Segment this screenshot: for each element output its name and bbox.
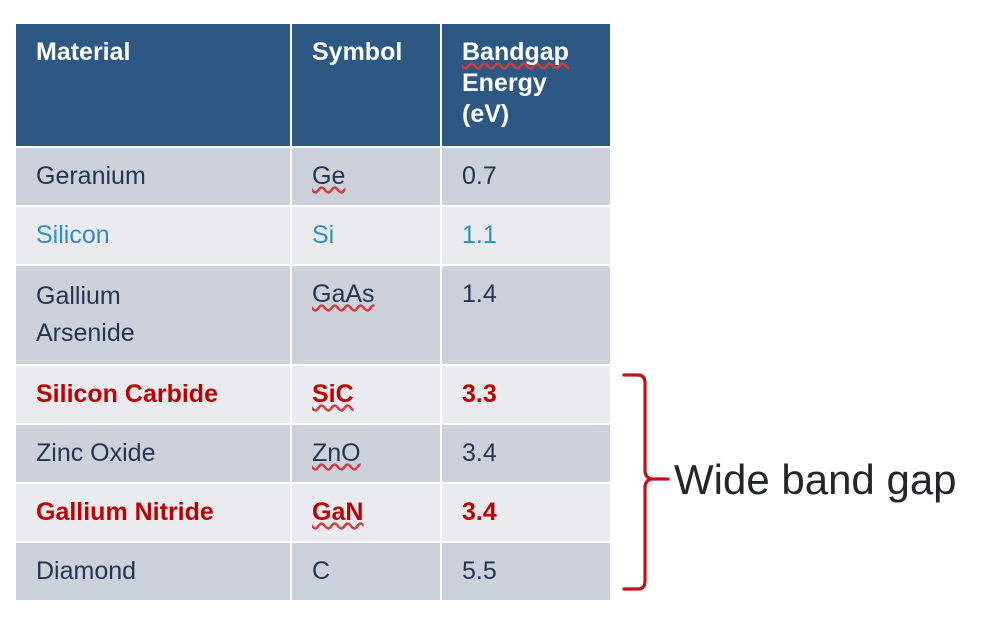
material-name-line2: Arsenide xyxy=(36,315,290,352)
cell-bandgap: 5.5 xyxy=(442,543,610,600)
table-row: Geranium Ge 0.7 xyxy=(16,148,610,205)
material-symbol: GaN xyxy=(312,496,440,529)
bandgap-value: 5.5 xyxy=(462,555,610,588)
table-row: Zinc Oxide ZnO 3.4 xyxy=(16,425,610,482)
bandgap-table: Material Symbol Bandgap Energy (eV) Gera… xyxy=(14,22,612,602)
column-header-bandgap-line2: Energy xyxy=(462,68,610,99)
table-row: Silicon Si 1.1 xyxy=(16,207,610,264)
cell-material: Zinc Oxide xyxy=(16,425,290,482)
table-header-row: Material Symbol Bandgap Energy (eV) xyxy=(16,24,610,146)
material-name: Diamond xyxy=(36,555,290,588)
material-symbol: GaAs xyxy=(312,278,440,311)
table-body: Geranium Ge 0.7 Silicon Si 1.1 Gallium xyxy=(16,148,610,600)
material-name: Silicon Carbide xyxy=(36,378,290,411)
column-header-bandgap-line1: Bandgap xyxy=(462,37,610,68)
cell-bandgap: 0.7 xyxy=(442,148,610,205)
bandgap-value: 3.3 xyxy=(462,378,610,411)
bandgap-value: 1.4 xyxy=(462,278,610,311)
cell-material: Gallium Arsenide xyxy=(16,266,290,364)
cell-bandgap: 1.4 xyxy=(442,266,610,364)
cell-symbol: SiC xyxy=(292,366,440,423)
material-name: Silicon xyxy=(36,219,290,252)
column-header-bandgap-energy: Bandgap Energy (eV) xyxy=(442,24,610,146)
bandgap-value: 3.4 xyxy=(462,437,610,470)
material-name-line1: Gallium xyxy=(36,278,290,315)
cell-material: Diamond xyxy=(16,543,290,600)
material-symbol: Ge xyxy=(312,160,440,193)
column-header-symbol: Symbol xyxy=(292,24,440,146)
material-symbol: SiC xyxy=(312,378,440,411)
cell-bandgap: 3.4 xyxy=(442,425,610,482)
column-header-symbol-label: Symbol xyxy=(312,37,440,68)
table-header: Material Symbol Bandgap Energy (eV) xyxy=(16,24,610,146)
cell-material: Gallium Nitride xyxy=(16,484,290,541)
column-header-material-label: Material xyxy=(36,37,290,68)
bandgap-value: 1.1 xyxy=(462,219,610,252)
material-symbol: C xyxy=(312,555,440,588)
cell-bandgap: 3.4 xyxy=(442,484,610,541)
cell-bandgap: 1.1 xyxy=(442,207,610,264)
cell-symbol: ZnO xyxy=(292,425,440,482)
table-row: Diamond C 5.5 xyxy=(16,543,610,600)
annotation-label: Wide band gap xyxy=(674,456,957,504)
bandgap-value: 3.4 xyxy=(462,496,610,529)
cell-bandgap: 3.3 xyxy=(442,366,610,423)
material-name: Geranium xyxy=(36,160,290,193)
cell-symbol: GaAs xyxy=(292,266,440,364)
material-name: Gallium Nitride xyxy=(36,496,290,529)
column-header-bandgap-line3: (eV) xyxy=(462,99,610,130)
material-symbol: ZnO xyxy=(312,437,440,470)
table-row: Silicon Carbide SiC 3.3 xyxy=(16,366,610,423)
cell-material: Geranium xyxy=(16,148,290,205)
cell-symbol: Ge xyxy=(292,148,440,205)
table-row: Gallium Nitride GaN 3.4 xyxy=(16,484,610,541)
cell-symbol: C xyxy=(292,543,440,600)
material-name: Zinc Oxide xyxy=(36,437,290,470)
cell-symbol: GaN xyxy=(292,484,440,541)
cell-material: Silicon xyxy=(16,207,290,264)
column-header-material: Material xyxy=(16,24,290,146)
cell-symbol: Si xyxy=(292,207,440,264)
material-symbol: Si xyxy=(312,219,440,252)
bandgap-value: 0.7 xyxy=(462,160,610,193)
cell-material: Silicon Carbide xyxy=(16,366,290,423)
wide-band-gap-annotation: Wide band gap xyxy=(612,360,1001,600)
table-row: Gallium Arsenide GaAs 1.4 xyxy=(16,266,610,364)
